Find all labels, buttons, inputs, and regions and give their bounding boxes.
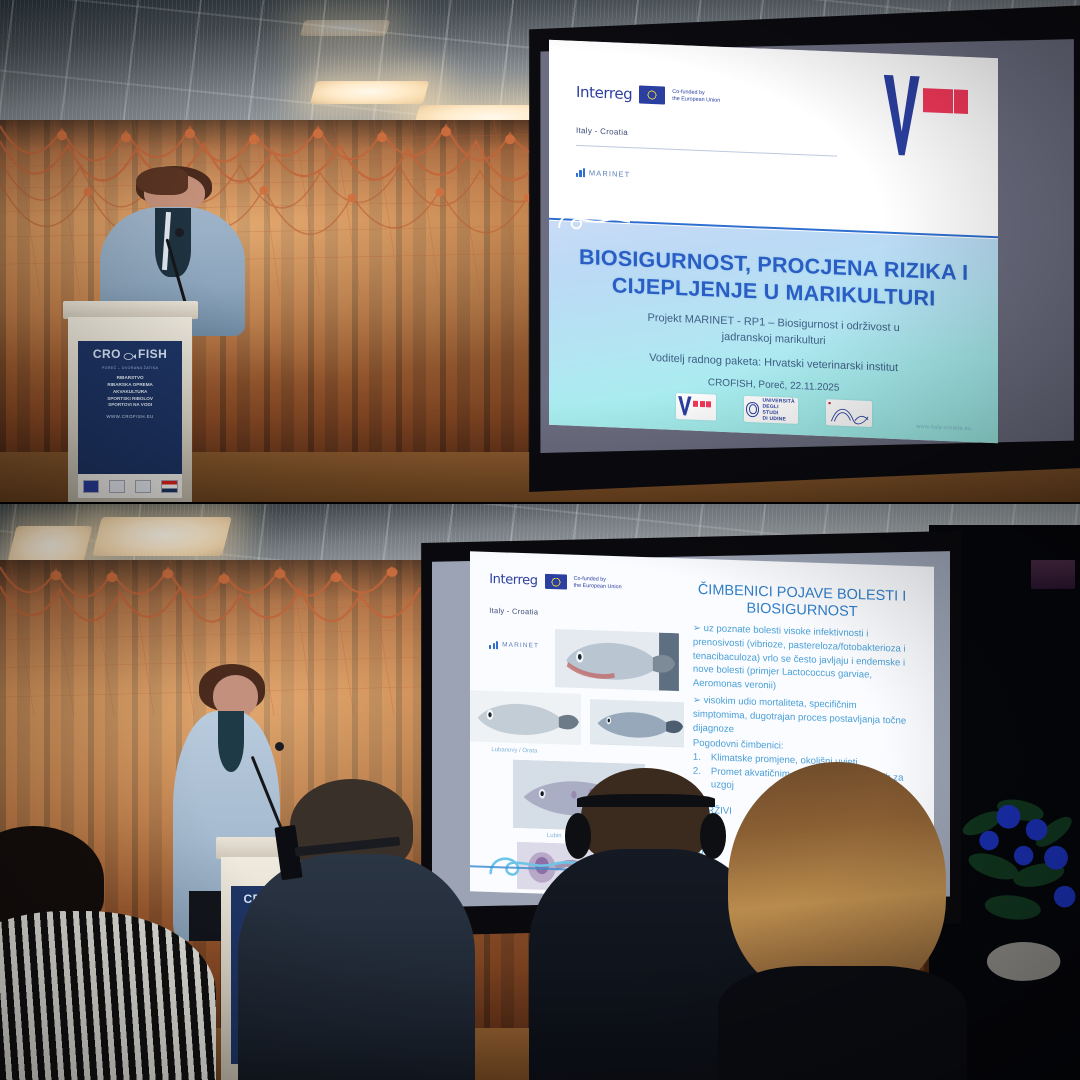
- podium-topic-4: SPORTOVI NA VODI: [107, 402, 153, 409]
- photo-collage: Interreg Co-funded by the European Union…: [0, 0, 1080, 1080]
- crofish-logo: CRO FISH: [93, 347, 168, 361]
- podium-sponsor-strip: [78, 474, 182, 498]
- presenter-hair-front: [136, 167, 187, 194]
- list-number-1: 1.: [693, 751, 704, 765]
- projection-screen-top: Interreg Co-funded by the European Union…: [529, 5, 1080, 492]
- photo-panel-top: Interreg Co-funded by the European Union…: [0, 0, 1080, 502]
- podium-topic-0: RIBARSTVO: [107, 375, 153, 382]
- bullet-arrow-icon-1: ➢: [693, 623, 701, 634]
- ceiling-light-1: [310, 81, 430, 104]
- veterinary-institute-logo: [877, 68, 962, 172]
- flower-arrangement: [961, 745, 1080, 1005]
- eu-flag-icon-2: [544, 574, 566, 590]
- audience-hair-long-blonde: [728, 762, 946, 999]
- equipment-rack: [1031, 560, 1074, 589]
- ceiling-light-b1: [92, 517, 231, 556]
- udine-seal-icon: [746, 401, 759, 417]
- marinet-wordmark: MARINET: [589, 168, 630, 179]
- audience-shirt-navy: [238, 854, 476, 1080]
- sponsor-chip-2: [135, 480, 152, 492]
- photo-panel-bottom: Interreg Co-funded by the European Union…: [0, 502, 1080, 1080]
- eu-flag-icon: [639, 86, 665, 105]
- logo-square-3: [954, 90, 969, 115]
- audience-jacket-striped: [0, 911, 216, 1080]
- fish-photo-2: [470, 691, 581, 746]
- audience-front-left: [0, 826, 216, 1080]
- podium-topics: RIBARSTVO RIBARSKA OPREMA AKVAKULTURA SP…: [107, 375, 153, 409]
- fish-icon: [123, 350, 136, 359]
- interreg-logo-2: Interreg Co-funded by the European Union: [489, 573, 621, 592]
- presenter-collar-2: [218, 711, 244, 772]
- logo-zavod-za-more: [825, 399, 871, 427]
- slide2-bullet-1: uz poznate bolesti visoke infektivnosti …: [693, 624, 906, 692]
- logo-square-2: [938, 89, 953, 114]
- logo-veterinary-institute: [675, 393, 715, 421]
- sponsor-chip-1: [109, 480, 126, 492]
- panel-seam: [0, 502, 1080, 504]
- eu-funding-caption-2: Co-funded by the European Union: [573, 576, 621, 591]
- podium-topic-1: RIBARSKA OPREMA: [107, 382, 153, 389]
- podium-sign: CRO FISH POREČ – DVORANA ŽATIKA RIBARSTV…: [78, 341, 182, 489]
- marinet-logo: MARINET: [576, 168, 630, 179]
- slide2-bullet-2: visokim udio mortaliteta, specifičnim si…: [693, 696, 906, 735]
- interreg-wordmark: Interreg: [576, 83, 632, 103]
- audience-center: [238, 779, 476, 1080]
- logo-square-1: [923, 88, 938, 113]
- v-mark-icon: [884, 75, 920, 156]
- crofish-cro: CRO: [93, 347, 121, 361]
- podium-url: WWW.CROFISH.EU: [106, 414, 154, 419]
- audience-right: [713, 762, 972, 1080]
- fish-photo-1: [555, 629, 679, 691]
- slide2-bullet-block-2: ➢ visokim udio mortaliteta, specifičnim …: [693, 694, 911, 742]
- croatia-flag-chip: [161, 480, 178, 492]
- podium-body: CRO FISH POREČ – DVORANA ŽATIKA RIBARSTV…: [68, 317, 192, 502]
- logo-small-square-1: [693, 401, 698, 406]
- fish-photo-3: [589, 700, 683, 747]
- slide2-bullet-block: ➢ uz poznate bolesti visoke infektivnost…: [693, 622, 911, 697]
- podium-topic-2: AKVAKULTURA: [107, 389, 153, 396]
- udine-wordmark: UNIVERSITÀ DEGLI STUDI DI UDINE: [762, 397, 794, 423]
- interreg-wordmark-2: Interreg: [489, 573, 537, 590]
- bullet-arrow-icon-2: ➢: [693, 695, 701, 706]
- v-mark-small-icon: [678, 396, 692, 416]
- marinet-logo-2: MARINET: [489, 640, 539, 651]
- podium-top: CRO FISH POREČ – DVORANA ŽATIKA RIBARSTV…: [63, 301, 198, 502]
- slide-title: Interreg Co-funded by the European Union…: [549, 40, 998, 443]
- headphones-icon: [577, 794, 715, 807]
- logo-university-udine: UNIVERSITÀ DEGLI STUDI DI UDINE: [743, 396, 797, 424]
- logo-small-square-3: [706, 401, 711, 406]
- eu-flag-chip: [83, 480, 100, 492]
- podium-venue: POREČ – DVORANA ŽATIKA: [102, 366, 158, 370]
- audience-top-dark: [718, 966, 967, 1080]
- marinet-bars-icon: [576, 168, 585, 177]
- fish-caption-1: Lubanovy / Orata: [491, 748, 537, 756]
- eu-funding-caption: Co-funded by the European Union: [672, 89, 720, 105]
- marinet-bars-icon-2: [489, 640, 498, 649]
- podium-topic-3: SPORTSKI RIBOLOV: [107, 396, 153, 403]
- logo-small-square-2: [699, 401, 704, 406]
- headphone-cup-left: [565, 813, 591, 858]
- marinet-wordmark-2: MARINET: [502, 642, 539, 650]
- crofish-fish: FISH: [138, 347, 167, 361]
- programme-label: Italy - Croatia: [576, 125, 628, 136]
- wave-swirl-decor: [558, 209, 630, 236]
- programme-label-2: Italy - Croatia: [489, 607, 538, 618]
- ceiling-light-3: [300, 20, 391, 36]
